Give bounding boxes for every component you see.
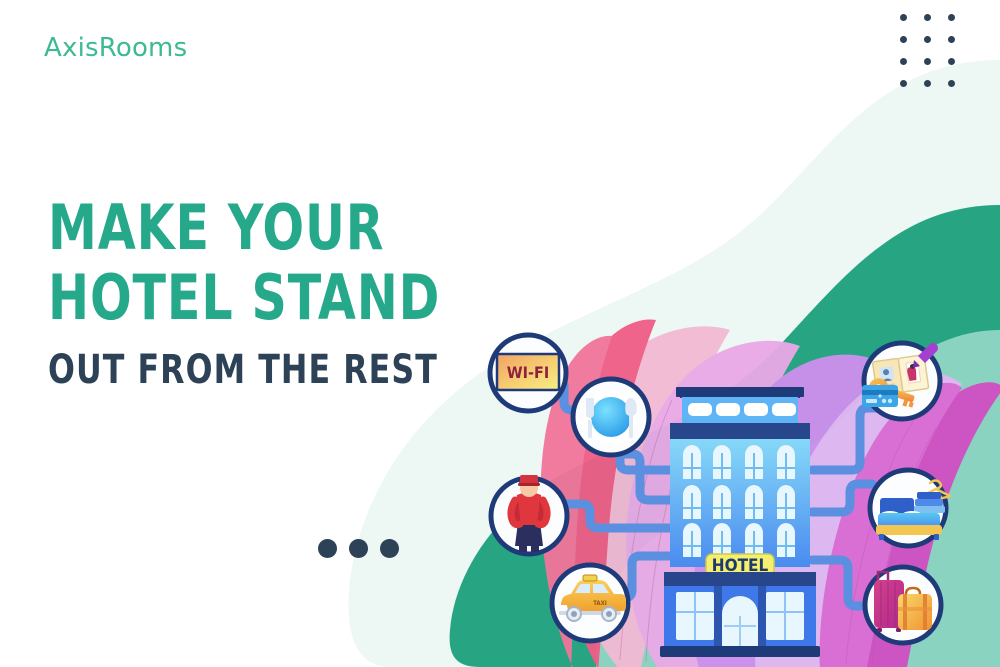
grid-dot (900, 80, 907, 87)
accent-dot (349, 539, 368, 558)
grid-dot (948, 36, 955, 43)
bellhop-icon (491, 475, 567, 554)
grid-dot (948, 58, 955, 65)
grid-dot (924, 80, 931, 87)
hotel-building: HOTEL (660, 387, 820, 657)
grid-dot (900, 58, 907, 65)
dot-grid (900, 14, 972, 102)
taxi-icon: TAXI (552, 565, 628, 641)
wifi-label: WI-FI (507, 363, 549, 382)
headline-subline: OUT FROM THE REST (48, 347, 426, 393)
hero-banner: HOTEL (0, 0, 1000, 667)
grid-dot (900, 14, 907, 21)
accent-dot (318, 539, 337, 558)
grid-dot (924, 14, 931, 21)
luggage-icon (865, 567, 941, 643)
headline-line-1: MAKE YOUR (48, 193, 426, 263)
grid-dot (924, 58, 931, 65)
grid-dot (948, 80, 955, 87)
three-dots (318, 539, 399, 558)
wifi-icon: WI-FI (490, 335, 566, 411)
bed-icon (870, 470, 950, 546)
accent-dot (380, 539, 399, 558)
brand-logo[interactable]: AxisRooms (44, 33, 187, 63)
headline-block: MAKE YOUR HOTEL STAND OUT FROM THE REST (48, 193, 478, 393)
key-card-icon (862, 343, 940, 419)
grid-dot (924, 36, 931, 43)
dining-icon (573, 379, 649, 455)
taxi-label: TAXI (593, 600, 607, 607)
grid-dot (948, 14, 955, 21)
headline-line-2: HOTEL STAND (48, 263, 426, 333)
grid-dot (900, 36, 907, 43)
